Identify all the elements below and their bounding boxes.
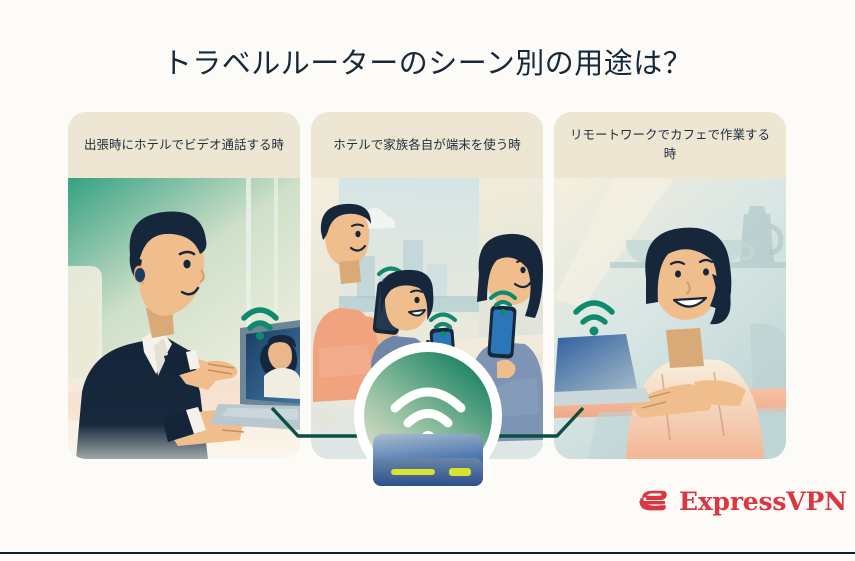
panel-caption-3: リモートワークでカフェで作業する時 (554, 112, 786, 178)
panel-caption-2-text: ホテルで家族各自が端末を使う時 (333, 136, 521, 155)
panel-caption-3-text: リモートワークでカフェで作業する時 (570, 126, 770, 164)
expressvpn-mark-icon (636, 484, 670, 518)
panel-illustration-1 (68, 178, 300, 459)
panel-illustration-3 (554, 178, 786, 459)
page-title: トラベルルーターのシーン別の用途は？ (0, 40, 855, 82)
infographic-canvas: トラベルルーターのシーン別の用途は？ 出張時にホテルでビデオ通話する時 (0, 0, 855, 561)
expressvpn-logo: ExpressVPN (636, 484, 847, 518)
travel-router-hub (333, 338, 523, 488)
bottom-divider (0, 552, 855, 554)
panel-caption-2: ホテルで家族各自が端末を使う時 (311, 112, 543, 178)
scene-panel-remote-work: リモートワークでカフェで作業する時 (554, 112, 786, 459)
panel-caption-1-text: 出張時にホテルでビデオ通話する時 (84, 136, 284, 155)
panel-caption-1: 出張時にホテルでビデオ通話する時 (68, 112, 300, 178)
expressvpn-wordmark: ExpressVPN (679, 487, 847, 516)
scene-panel-business-trip: 出張時にホテルでビデオ通話する時 (68, 112, 300, 459)
